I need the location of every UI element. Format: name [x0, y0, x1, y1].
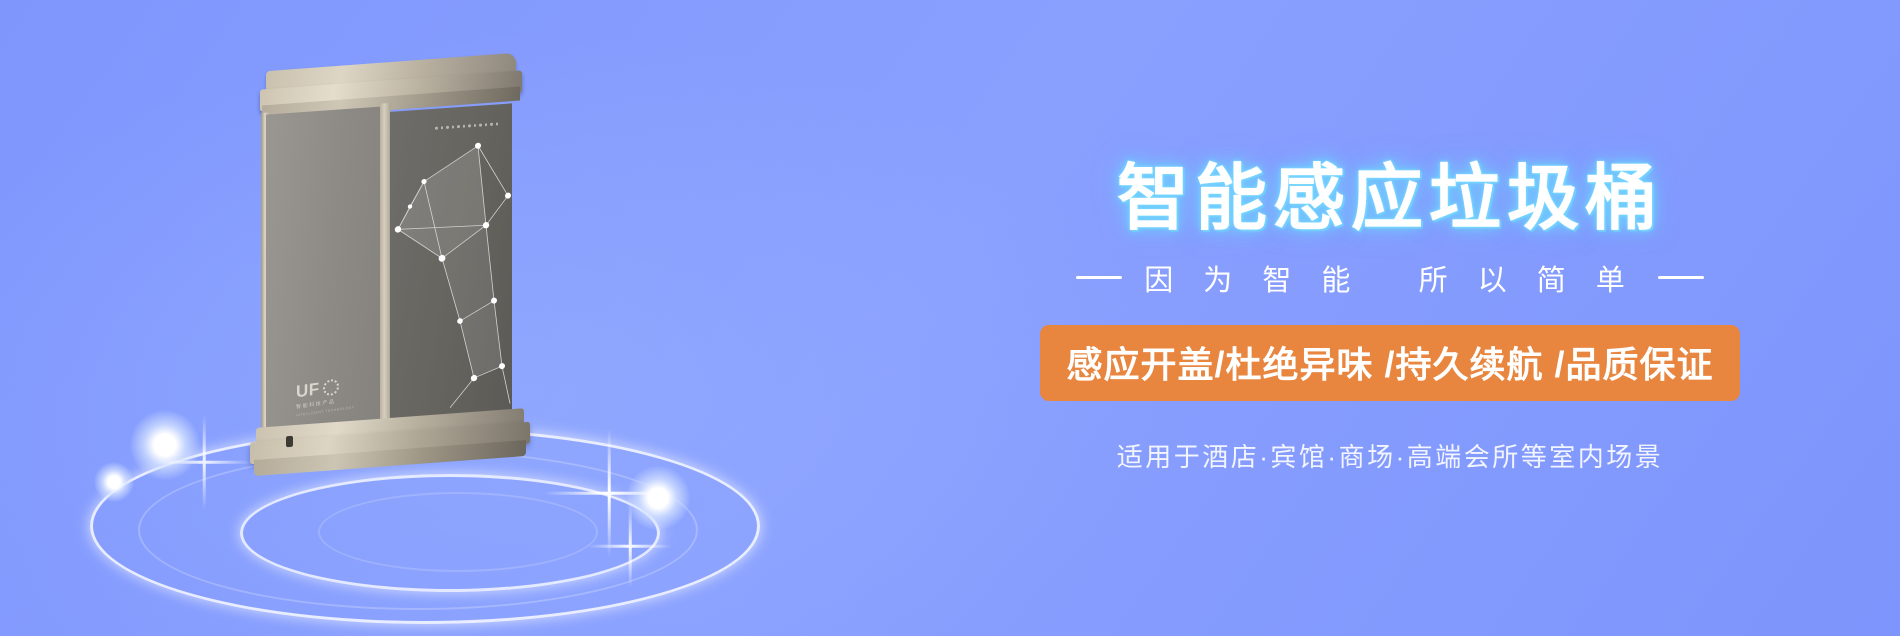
sparkle-star-small	[588, 504, 672, 588]
subheadline: 因 为 智 能 所 以 简 单	[1144, 257, 1636, 299]
glow-orb-left-small	[94, 462, 134, 502]
low-poly-network-graphic	[390, 103, 512, 422]
smart-trash-bin: UF 智能科技产品 INTELLIGENT TECHNOLOGY	[238, 62, 538, 462]
product-scene: UF 智能科技产品 INTELLIGENT TECHNOLOGY	[60, 10, 820, 636]
headline: 智能感应垃圾桶	[1117, 163, 1663, 235]
features-pill: 感应开盖/杜绝异味 /持久续航 /品质保证	[1040, 325, 1739, 401]
bin-face-side	[390, 103, 512, 422]
copy-block: 智能感应垃圾桶 因 为 智 能 所 以 简 单 感应开盖/杜绝异味 /持久续航 …	[880, 0, 1900, 636]
rule-left	[1076, 276, 1122, 279]
subheadline-row: 因 为 智 能 所 以 简 单	[1076, 257, 1704, 299]
bin-body: UF 智能科技产品 INTELLIGENT TECHNOLOGY	[266, 97, 512, 432]
usage-scenes: 适用于酒店·宾馆·商场·高端会所等室内场景	[1117, 437, 1663, 474]
logo-wordmark: UF	[296, 380, 320, 400]
rule-right	[1658, 276, 1704, 279]
promo-banner: UF 智能科技产品 INTELLIGENT TECHNOLOGY 智能感应垃圾桶…	[0, 0, 1900, 636]
logo-ring-icon	[323, 378, 339, 396]
features-text: 感应开盖/杜绝异味 /持久续航 /品质保证	[1066, 344, 1713, 385]
bin-latch-icon	[286, 436, 293, 447]
